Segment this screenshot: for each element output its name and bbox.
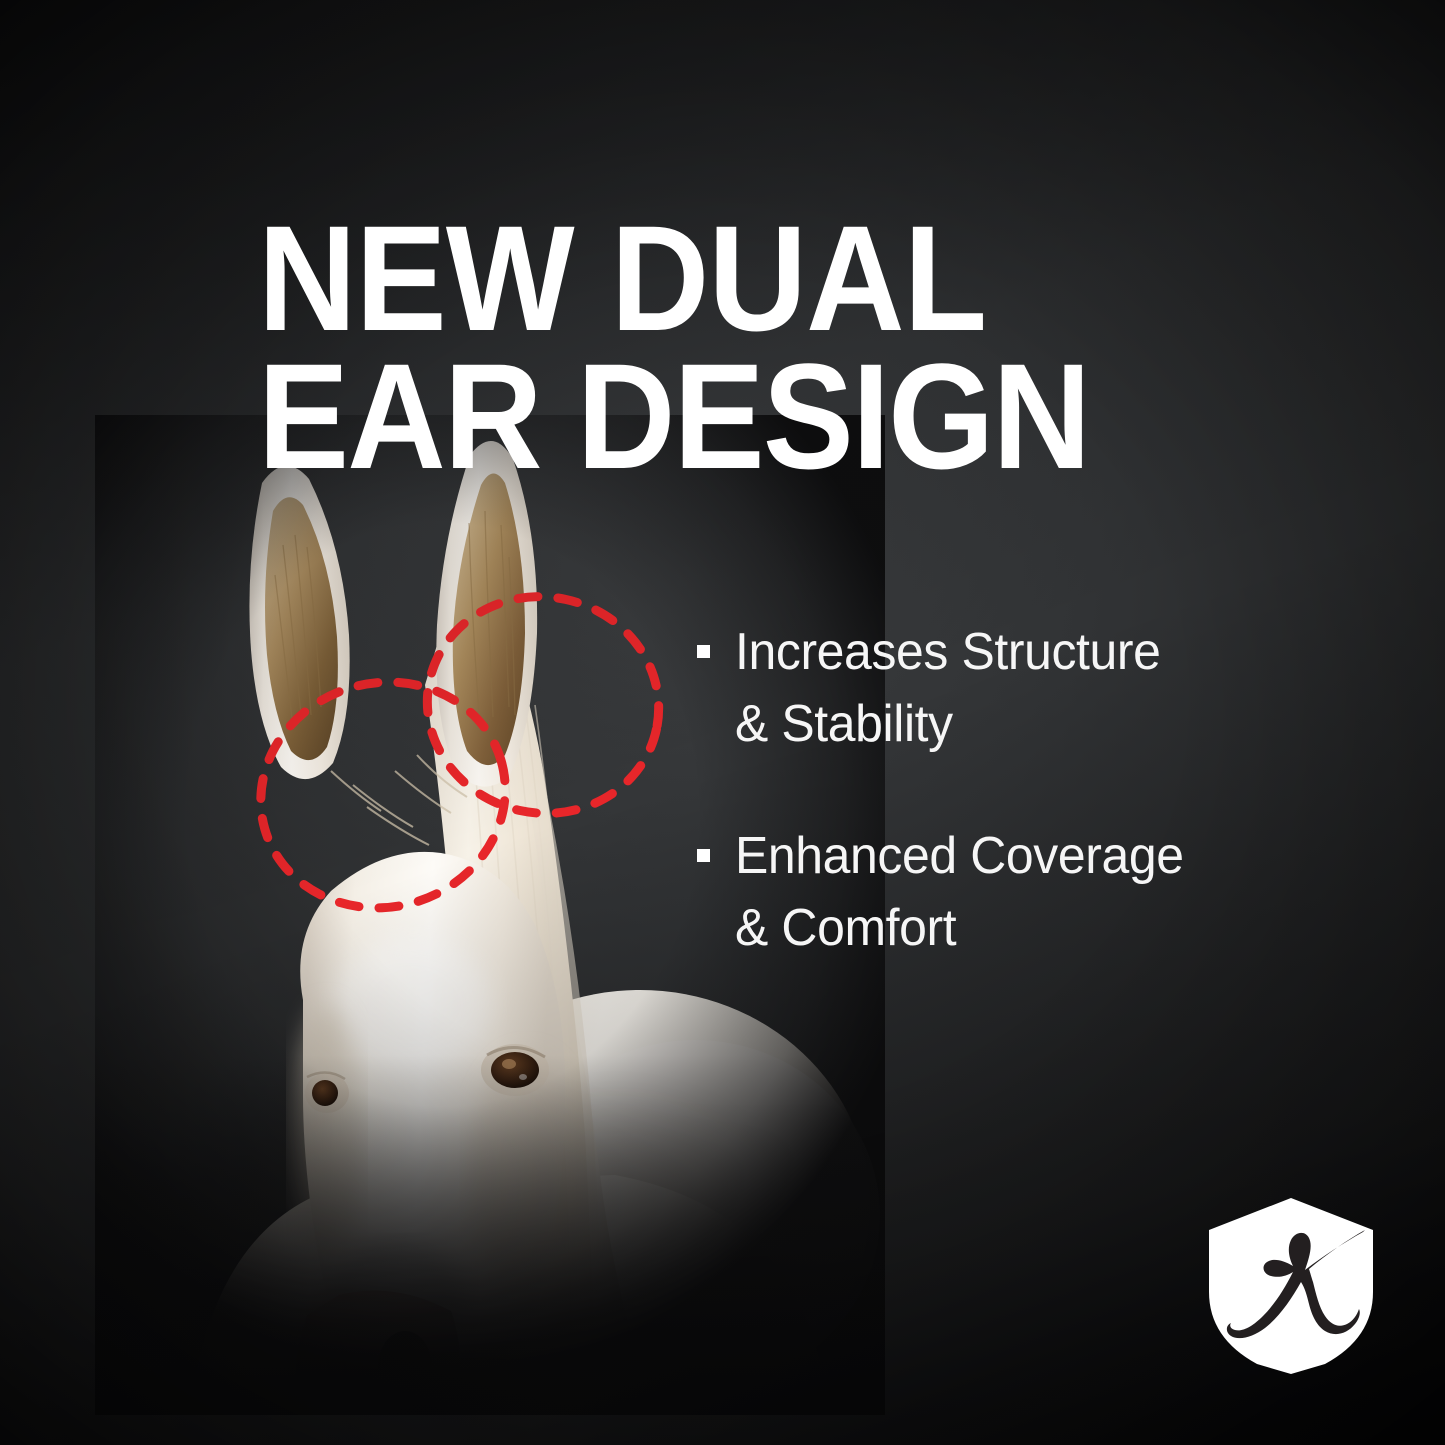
square-bullet-icon [697,849,710,862]
brand-logo [1205,1196,1377,1376]
square-bullet-icon [697,645,710,658]
list-item: Enhanced Coverage & Comfort [697,820,1357,964]
feature-list: Increases Structure & Stability Enhanced… [697,616,1357,964]
feature-text: Enhanced Coverage & Comfort [735,820,1184,964]
feature-text: Increases Structure & Stability [735,616,1161,760]
promo-poster: NEW DUAL EAR DESIGN Increases Structure … [0,0,1445,1445]
headline: NEW DUAL EAR DESIGN [258,209,1132,485]
headline-line-1: NEW DUAL [258,209,1132,347]
headline-line-2: EAR DESIGN [258,347,1132,485]
list-item: Increases Structure & Stability [697,616,1357,760]
